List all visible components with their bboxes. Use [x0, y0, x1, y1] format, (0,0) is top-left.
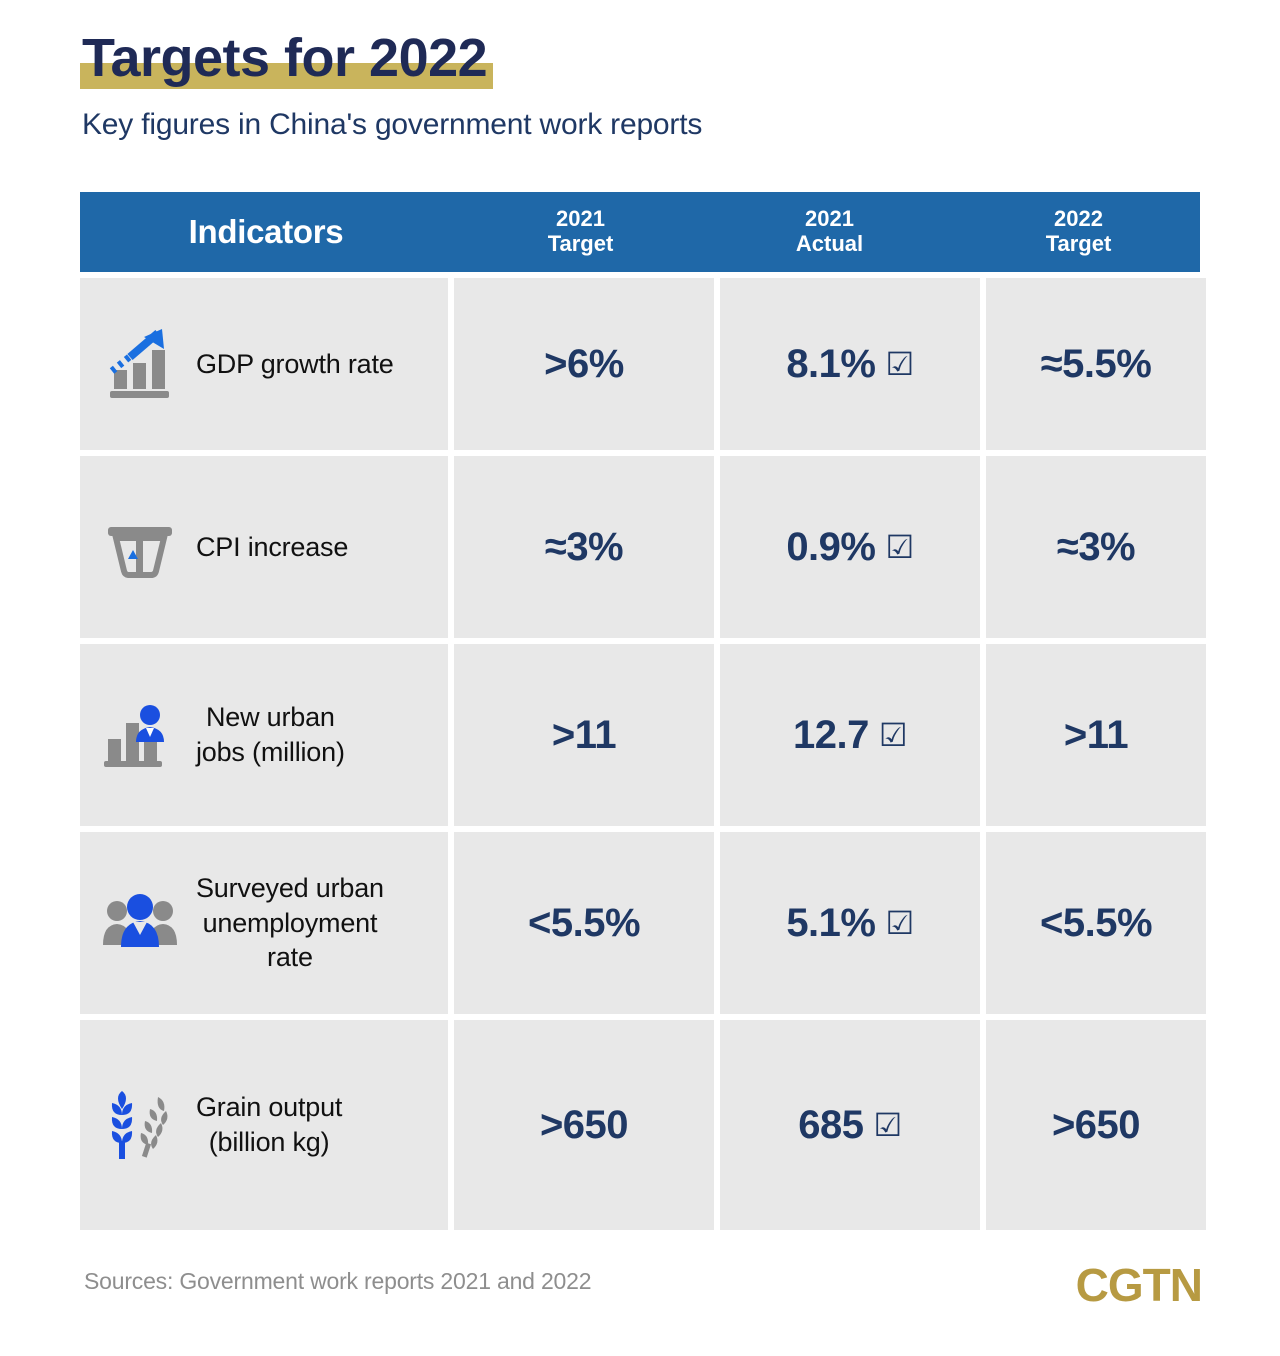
- table-row: Grain output(billion kg) >650 685 ☑ >650: [80, 1020, 1200, 1230]
- value-text: >11: [1064, 713, 1128, 758]
- people-group-icon: [98, 881, 182, 965]
- value-2021-actual: 8.1% ☑: [720, 278, 980, 450]
- column-header-kind: Actual: [705, 232, 954, 257]
- column-header-2021-actual: 2021 Actual: [705, 207, 954, 256]
- indicator-cell: CPI increase: [80, 456, 448, 638]
- target-met-check-icon: ☑: [885, 531, 913, 563]
- value-2021-target: ≈3%: [454, 456, 714, 638]
- indicator-cell: New urbanjobs (million): [80, 644, 448, 826]
- indicator-cell: GDP growth rate: [80, 278, 448, 450]
- value-2022-target: ≈5.5%: [986, 278, 1206, 450]
- value-text: >650: [540, 1103, 628, 1148]
- value-text: >650: [1052, 1103, 1140, 1148]
- value-text: >6%: [544, 342, 624, 387]
- targets-table: Indicators 2021 Target 2021 Actual 2022 …: [80, 192, 1200, 1230]
- column-header-kind: Target: [954, 232, 1203, 257]
- target-met-check-icon: ☑: [885, 348, 913, 380]
- value-2021-target: <5.5%: [454, 832, 714, 1014]
- indicator-label: CPI increase: [196, 530, 348, 565]
- cgtn-logo: CGTN: [1076, 1258, 1202, 1312]
- table-row: GDP growth rate >6% 8.1% ☑ ≈5.5%: [80, 278, 1200, 450]
- bar-chart-worker-icon: [98, 693, 182, 777]
- value-text: ≈3%: [1057, 525, 1135, 570]
- column-header-2021-target: 2021 Target: [456, 207, 705, 256]
- value-text: 0.9%: [786, 525, 875, 570]
- value-2022-target: ≈3%: [986, 456, 1206, 638]
- value-text: <5.5%: [1040, 901, 1152, 946]
- value-2021-actual: 12.7 ☑: [720, 644, 980, 826]
- column-header-2022-target: 2022 Target: [954, 207, 1203, 256]
- page-subtitle: Key figures in China's government work r…: [82, 108, 702, 142]
- value-2021-target: >650: [454, 1020, 714, 1230]
- indicator-label: New urbanjobs (million): [196, 700, 345, 769]
- value-2021-target: >11: [454, 644, 714, 826]
- target-met-check-icon: ☑: [874, 1109, 902, 1141]
- wheat-stalks-icon: [98, 1083, 182, 1167]
- value-text: ≈5.5%: [1041, 342, 1152, 387]
- value-2021-actual: 5.1% ☑: [720, 832, 980, 1014]
- value-2021-target: >6%: [454, 278, 714, 450]
- value-2022-target: <5.5%: [986, 832, 1206, 1014]
- target-met-check-icon: ☑: [885, 907, 913, 939]
- value-text: ≈3%: [545, 525, 623, 570]
- value-text: <5.5%: [528, 901, 640, 946]
- infographic-page: Targets for 2022 Key figures in China's …: [0, 0, 1280, 1356]
- sources-note: Sources: Government work reports 2021 an…: [84, 1268, 591, 1295]
- indicator-label: Surveyed urbanunemploymentrate: [196, 871, 384, 975]
- column-header-kind: Target: [456, 232, 705, 257]
- bar-chart-growth-arrow-icon: [98, 322, 182, 406]
- page-title-text: Targets for 2022: [82, 28, 487, 88]
- table-row: Surveyed urbanunemploymentrate <5.5% 5.1…: [80, 832, 1200, 1014]
- indicator-cell: Surveyed urbanunemploymentrate: [80, 832, 448, 1014]
- value-text: 685: [798, 1103, 863, 1148]
- shopping-basket-icon: [98, 505, 182, 589]
- table-header-row: Indicators 2021 Target 2021 Actual 2022 …: [80, 192, 1200, 272]
- value-text: >11: [552, 713, 616, 758]
- title-block: Targets for 2022: [80, 30, 493, 87]
- column-header-year: 2021: [456, 207, 705, 232]
- column-header-indicators: Indicators: [80, 214, 456, 251]
- page-title: Targets for 2022: [80, 30, 493, 87]
- table-row: New urbanjobs (million) >11 12.7 ☑ >11: [80, 644, 1200, 826]
- indicator-label: GDP growth rate: [196, 347, 394, 382]
- value-text: 12.7: [793, 713, 869, 758]
- value-text: 8.1%: [786, 342, 875, 387]
- indicator-label: Grain output(billion kg): [196, 1090, 342, 1159]
- table-row: CPI increase ≈3% 0.9% ☑ ≈3%: [80, 456, 1200, 638]
- indicator-cell: Grain output(billion kg): [80, 1020, 448, 1230]
- value-text: 5.1%: [786, 901, 875, 946]
- target-met-check-icon: ☑: [879, 719, 907, 751]
- value-2021-actual: 685 ☑: [720, 1020, 980, 1230]
- column-header-year: 2021: [705, 207, 954, 232]
- value-2022-target: >650: [986, 1020, 1206, 1230]
- value-2021-actual: 0.9% ☑: [720, 456, 980, 638]
- column-header-year: 2022: [954, 207, 1203, 232]
- value-2022-target: >11: [986, 644, 1206, 826]
